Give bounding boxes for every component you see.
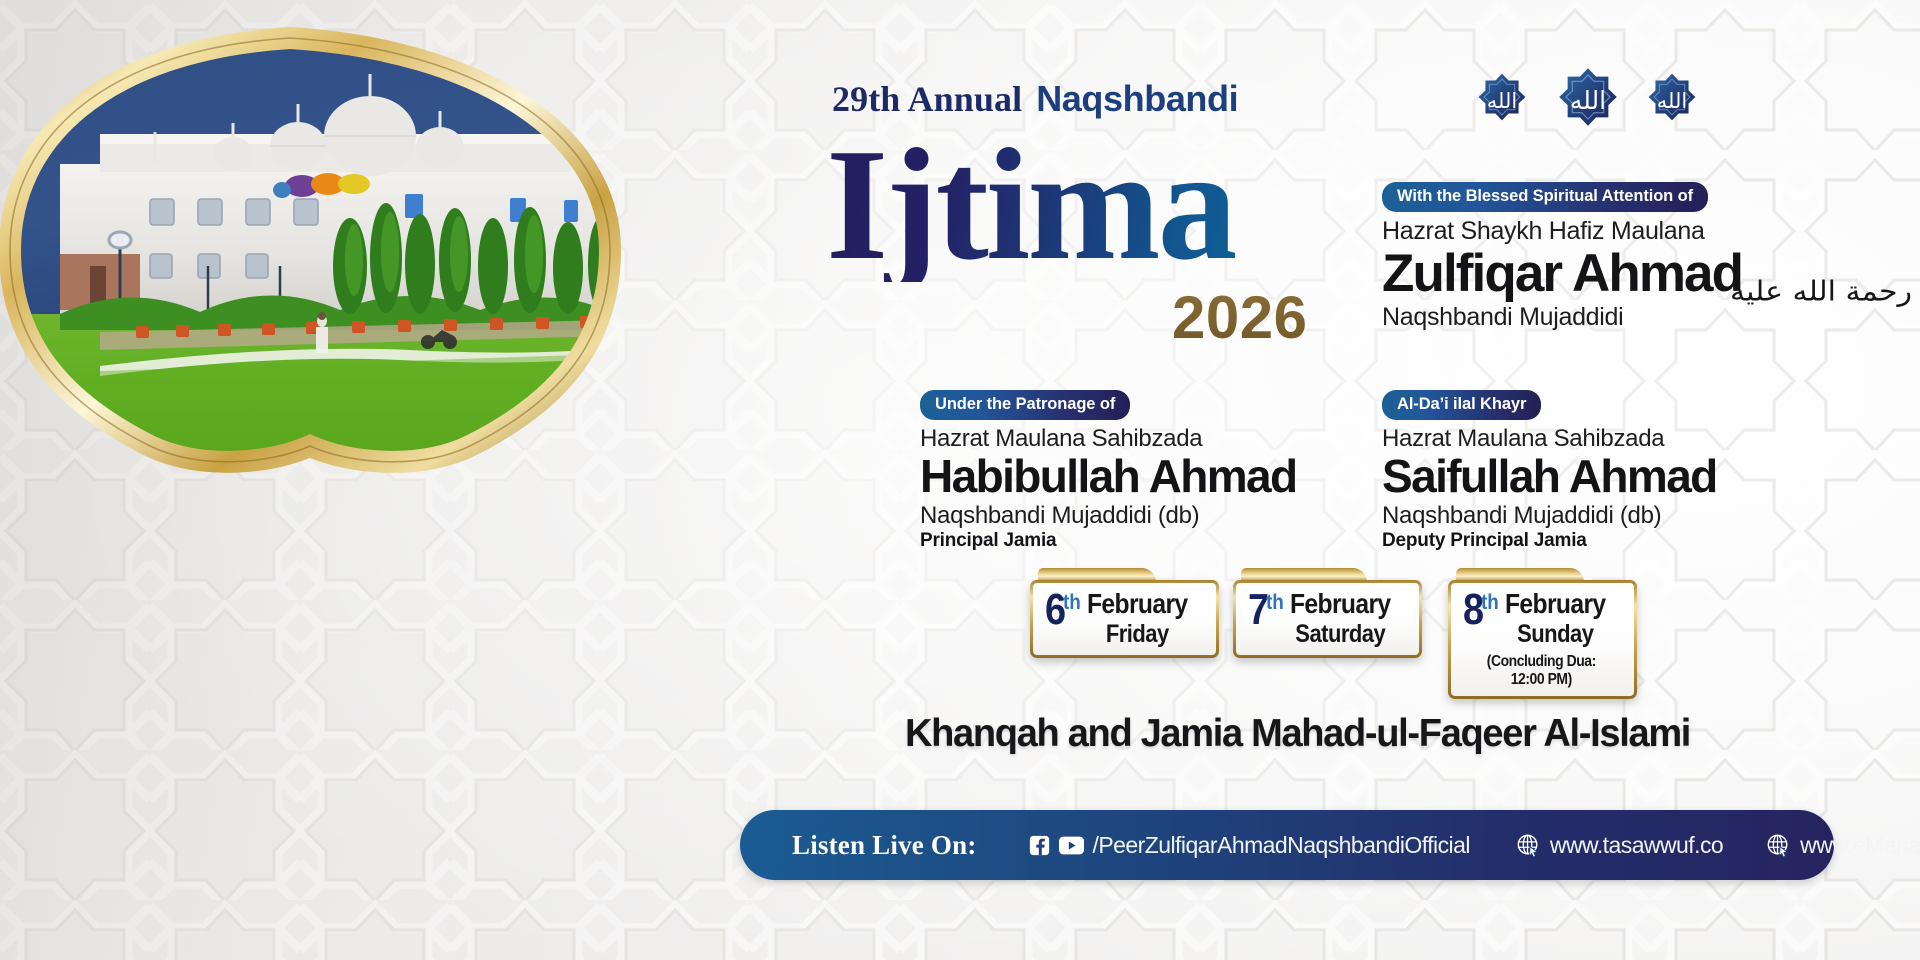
shaykh-lineage: Naqshbandi Mujaddidi [1382,303,1742,332]
svg-text:الله: الله [1487,89,1517,113]
social-handle-text: /PeerZulfiqarAhmadNaqshbandiOfficial [1093,832,1470,859]
listen-live-bar: Listen Live On: /PeerZulfiqarAhmadNaqshb… [740,810,1834,880]
date-day-number: 7 [1248,591,1267,629]
badge-spiritual-attention: With the Blessed Spiritual Attention of [1382,182,1708,212]
badge-al-dai-ilal-khayr: Al-Da’i ilal Khayr [1382,390,1541,420]
allah-medallion-left: الله [1479,74,1526,121]
kicker-order-text: Naqshbandi [1036,78,1238,119]
patron-name: Habibullah Ahmad [920,452,1297,501]
badge-patronage: Under the Patronage of [920,390,1130,420]
globe-icon[interactable] [1516,833,1541,858]
allah-medallion-group: الله الله الله [1478,58,1698,136]
date-card-body: 8 th February Sunday (Concluding Dua: 12… [1448,580,1637,699]
shaykh-name: Zulfiqar Ahmad [1382,246,1742,302]
event-year: 2026 [1172,283,1307,352]
dai-prefix: Hazrat Maulana Sahibzada [1382,425,1717,453]
youtube-icon[interactable] [1059,836,1084,855]
website-link-emahad[interactable]: www.eMahad.org [1766,832,1920,859]
date-ordinal: th [1266,592,1284,613]
event-kicker: 29th AnnualNaqshbandi [832,78,1238,120]
dai-name: Saifullah Ahmad [1382,452,1717,501]
patron-lineage: Naqshbandi Mujaddidi (db) [920,502,1297,530]
date-ordinal: th [1481,592,1499,613]
person-block-patron: Under the Patronage of Hazrat Maulana Sa… [920,390,1297,552]
date-weekday: Friday [1087,621,1188,648]
mosque-arch-frame [0,14,670,474]
website-url-emahad: www.eMahad.org [1800,832,1920,859]
date-month: February [1505,590,1606,618]
dai-lineage: Naqshbandi Mujaddidi (db) [1382,502,1717,530]
venue-name: Khanqah and Jamia Mahad-ul-Faqeer Al-Isl… [905,712,1690,756]
shaykh-prefix: Hazrat Shaykh Hafiz Maulana [1382,217,1742,246]
svg-text:الله: الله [1657,89,1687,113]
date-note: (Concluding Dua: 12:00 PM) [1471,653,1612,689]
website-link-tasawwuf[interactable]: www.tasawwuf.co [1516,832,1723,859]
date-card-body: 7 th February Saturday [1233,580,1422,658]
person-block-shaykh: With the Blessed Spiritual Attention of … [1382,182,1742,332]
social-handle-item[interactable]: /PeerZulfiqarAhmadNaqshbandiOfficial [1029,832,1470,859]
mosque-photo [0,14,670,474]
date-ordinal: th [1063,592,1081,613]
date-weekday: Sunday [1505,621,1606,648]
kicker-annual-text: 29th Annual [832,79,1022,119]
allah-medallion-right: الله [1649,74,1696,121]
website-url-tasawwuf: www.tasawwuf.co [1550,832,1723,859]
globe-icon[interactable] [1766,833,1791,858]
page-title: Ijtima [826,128,1235,282]
dai-role: Deputy Principal Jamia [1382,530,1717,552]
patron-role: Principal Jamia [920,530,1297,552]
allah-medallion-center: الله [1559,68,1617,126]
date-month: February [1290,590,1391,618]
facebook-icon[interactable] [1029,835,1050,856]
date-card-body: 6 th February Friday [1030,580,1219,658]
date-month: February [1087,590,1188,618]
date-day-number: 6 [1045,591,1064,629]
date-day-number: 8 [1463,591,1482,629]
arabic-honorific-calligraphy: رحمة الله عليه [1730,278,1912,306]
svg-text:الله: الله [1570,86,1606,115]
date-weekday: Saturday [1290,621,1391,648]
banner-canvas: 29th AnnualNaqshbandi Ijtima 2026 الله ا… [0,0,1920,960]
patron-prefix: Hazrat Maulana Sahibzada [920,425,1297,453]
person-block-dai: Al-Da’i ilal Khayr Hazrat Maulana Sahibz… [1382,390,1717,552]
listen-live-label: Listen Live On: [792,830,977,861]
